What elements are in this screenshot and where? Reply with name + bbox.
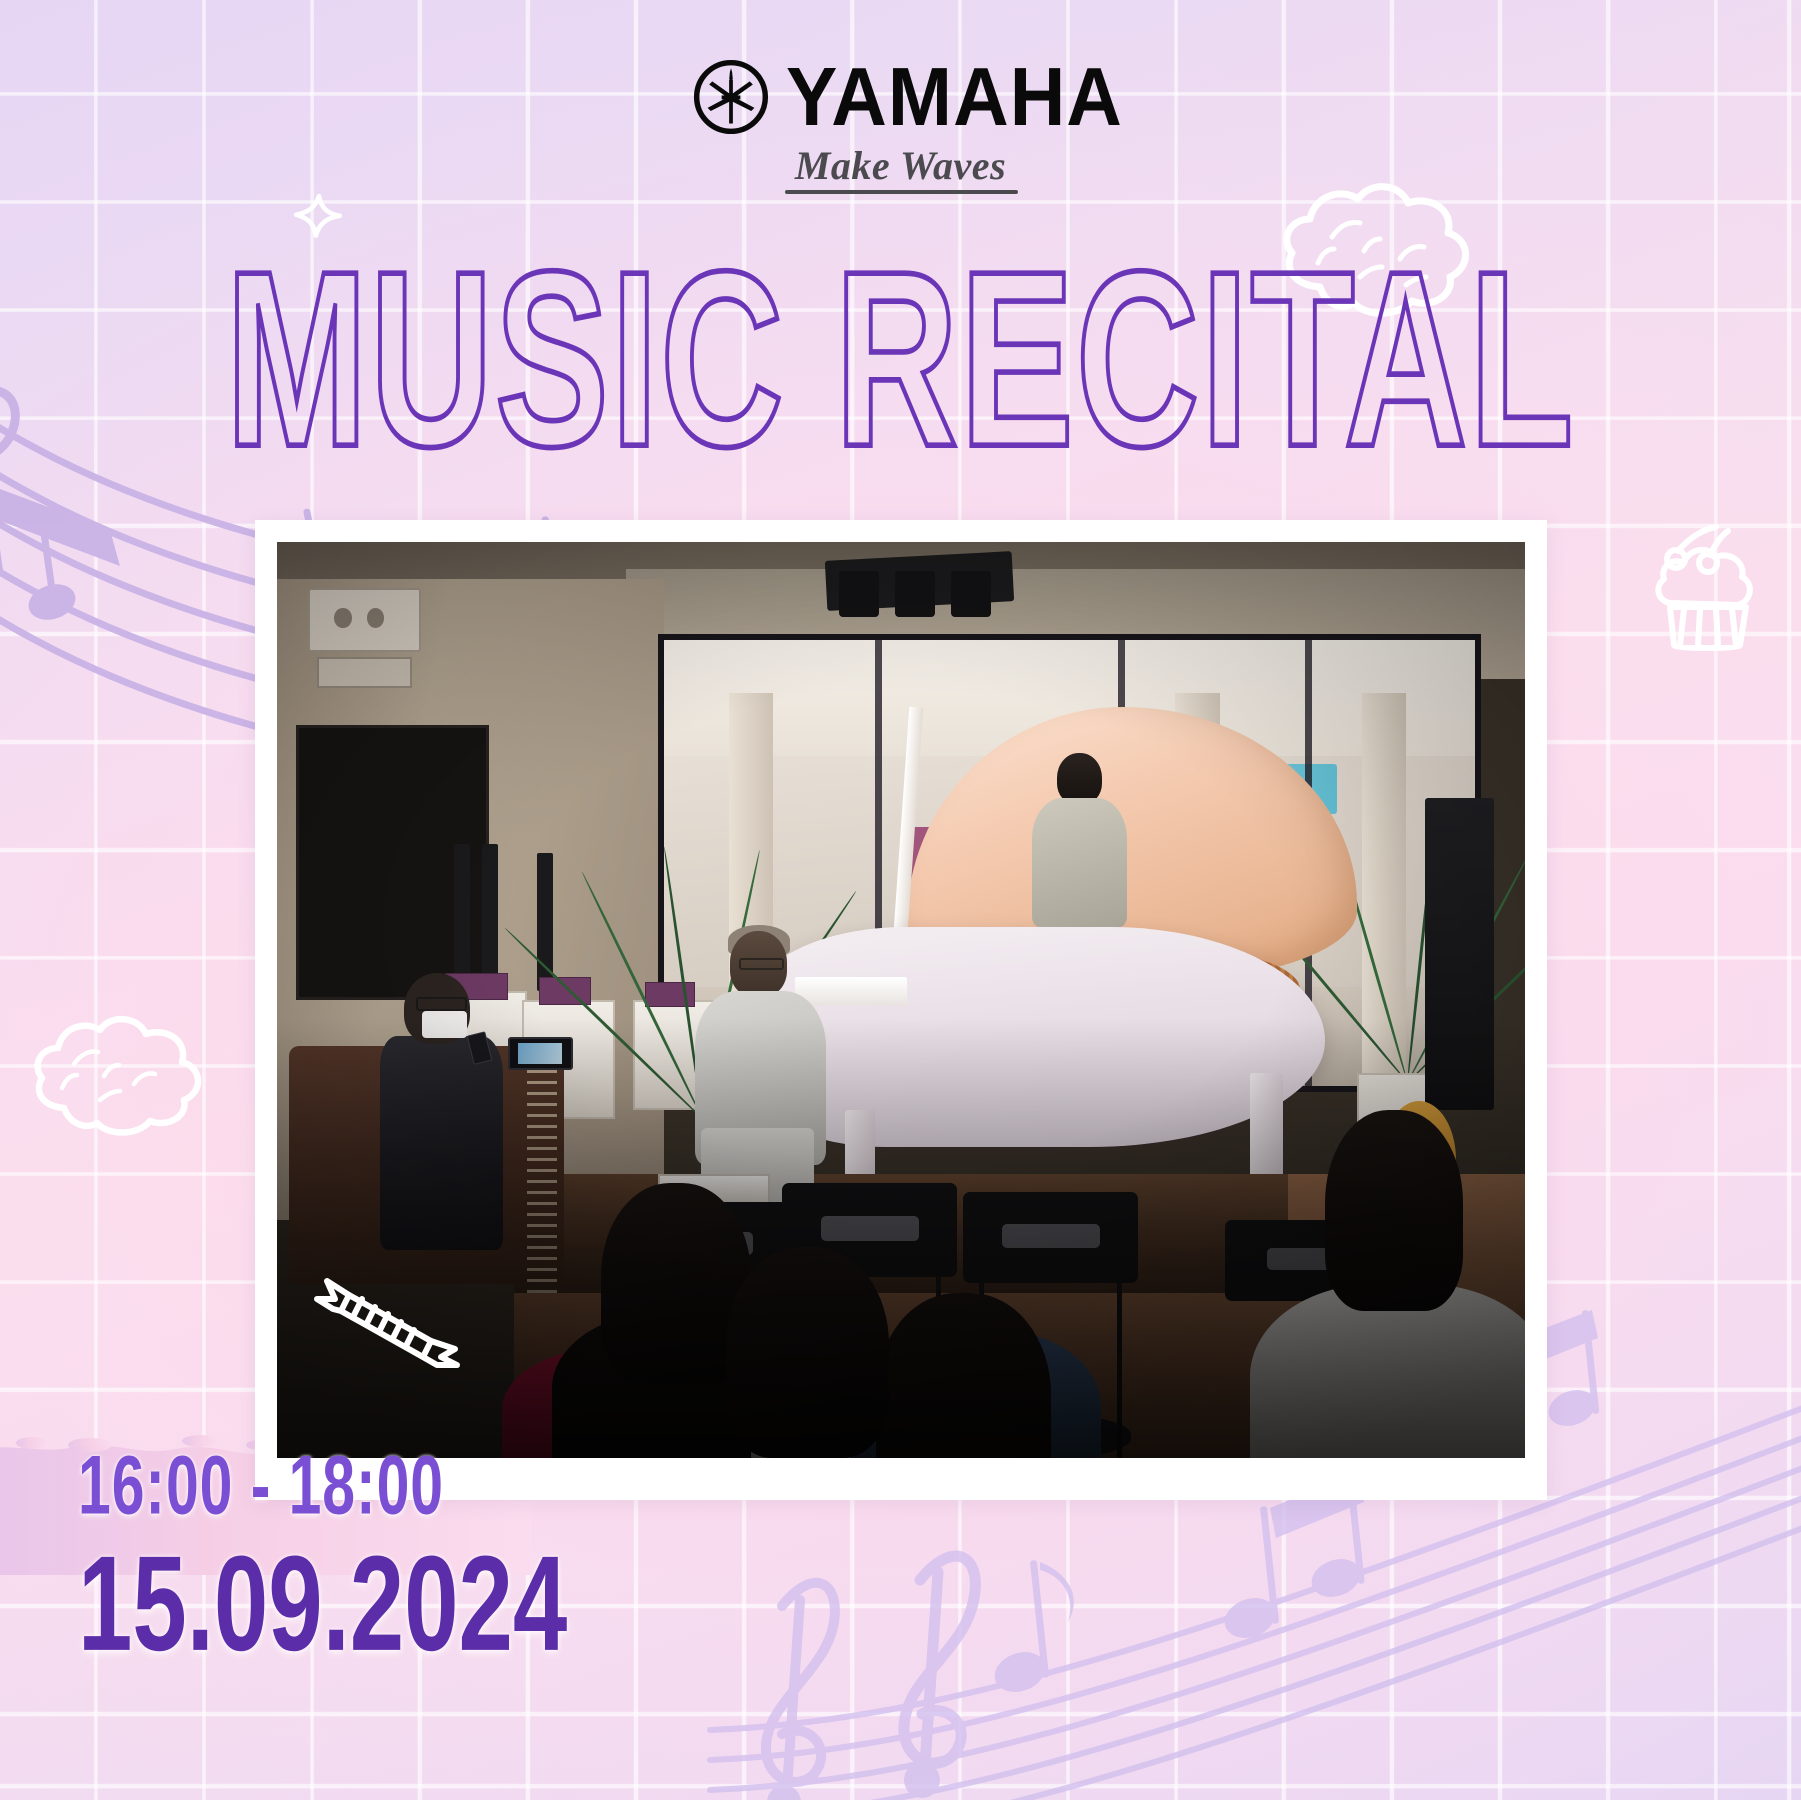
make-waves-tagline: Make Waves <box>795 143 1006 188</box>
yamaha-logo-block: YAMAHA Make Waves <box>0 58 1801 189</box>
make-waves-tagline-wrap: Make Waves <box>795 142 1006 189</box>
event-details: 16:00 - 18:00 15.09.2024 <box>78 1466 599 1672</box>
recital-photo <box>277 542 1525 1458</box>
event-time: 16:00 - 18:00 <box>78 1445 572 1528</box>
yamaha-wordmark: YAMAHA <box>786 56 1123 139</box>
event-date: 15.09.2024 <box>78 1537 567 1672</box>
cloud-doodle-icon-left <box>28 1010 206 1140</box>
yamaha-tuning-fork-icon <box>692 58 770 136</box>
cupcake-doodle-icon <box>1650 525 1770 653</box>
tagline-underline <box>785 190 1018 194</box>
music-recital-poster: YAMAHA Make Waves MUSIC RECITAL <box>0 0 1801 1800</box>
page-title: MUSIC RECITAL <box>27 235 1774 485</box>
recital-photo-frame <box>255 520 1547 1500</box>
